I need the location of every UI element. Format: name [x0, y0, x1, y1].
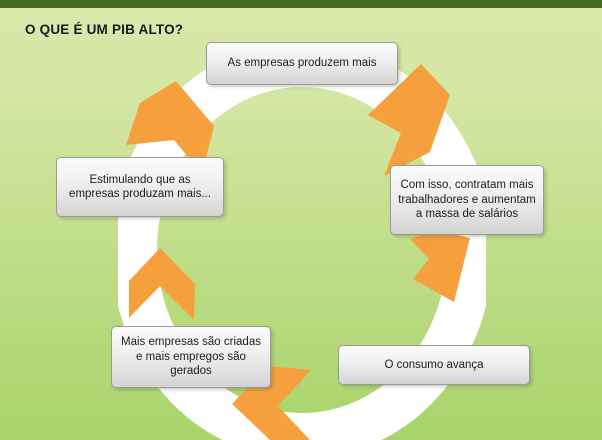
cycle-node-right[interactable]: Com isso, contratam mais trabalhadores e… — [390, 165, 544, 235]
top-accent-band — [0, 0, 602, 8]
cycle-node-bottom-left[interactable]: Mais empresas são criadas e mais emprego… — [111, 326, 271, 388]
cycle-node-bottom-left-label: Mais empresas são criadas e mais emprego… — [118, 335, 264, 379]
cycle-node-top[interactable]: As empresas produzem mais — [206, 42, 398, 85]
page-title: O QUE É UM PIB ALTO? — [25, 22, 183, 37]
cycle-node-left[interactable]: Estimulando que as empresas produzam mai… — [56, 157, 224, 217]
slide-canvas: O QUE É UM PIB ALTO? As empresas produze… — [0, 0, 602, 440]
cycle-node-right-label: Com isso, contratam mais trabalhadores e… — [397, 178, 537, 222]
cycle-node-left-label: Estimulando que as empresas produzam mai… — [63, 173, 217, 202]
cycle-node-top-label: As empresas produzem mais — [213, 56, 391, 71]
cycle-node-bottom-right-label: O consumo avança — [345, 358, 523, 373]
cycle-node-bottom-right[interactable]: O consumo avança — [338, 345, 530, 385]
